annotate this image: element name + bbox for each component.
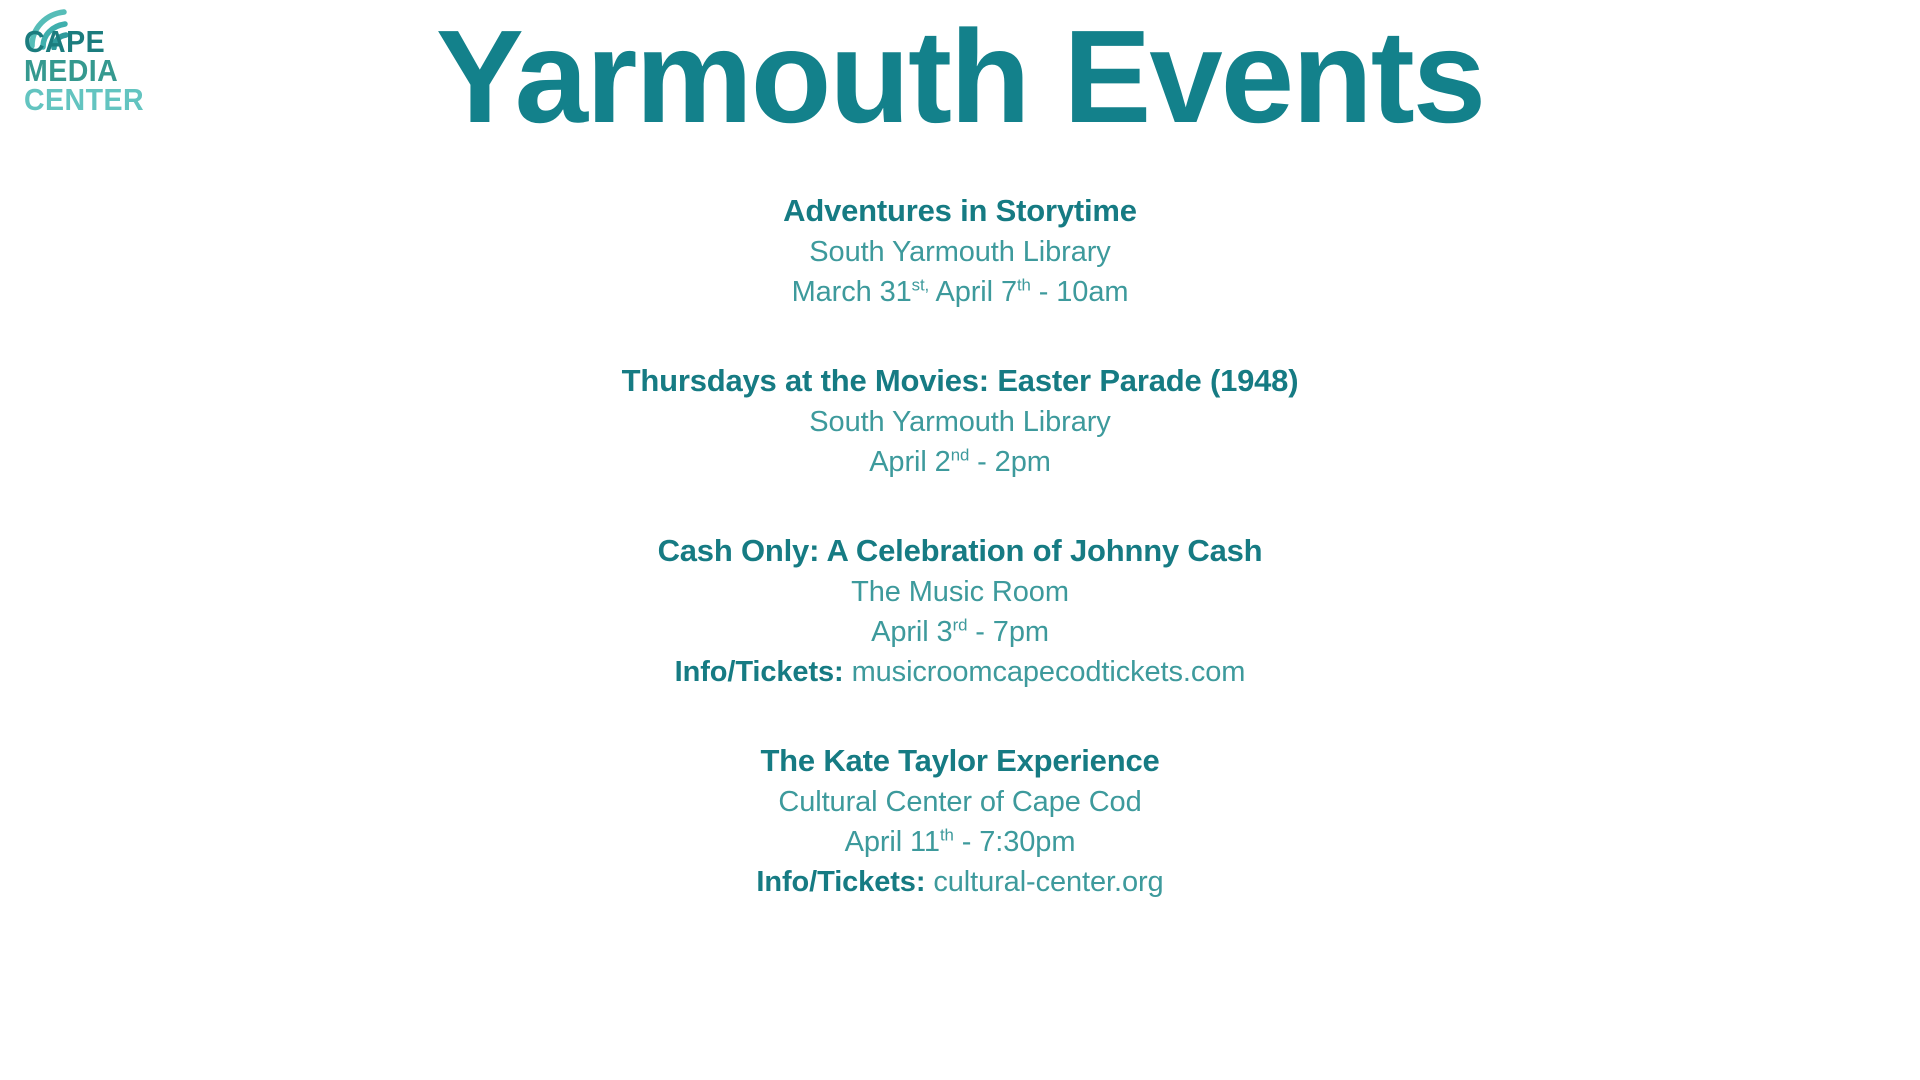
- date-text: April 3: [871, 616, 953, 648]
- event-item: Cash Only: A Celebration of Johnny CashT…: [0, 530, 1920, 692]
- date-text: - 7pm: [967, 616, 1049, 648]
- event-date: April 11th - 7:30pm: [0, 822, 1920, 862]
- info-tickets-link[interactable]: cultural-center.org: [933, 866, 1163, 898]
- event-date: April 3rd - 7pm: [0, 612, 1920, 652]
- date-ordinal-suffix: th: [1017, 275, 1031, 294]
- date-text: April 11: [845, 826, 940, 858]
- date-text: April 7: [929, 276, 1017, 308]
- event-item: Thursdays at the Movies: Easter Parade (…: [0, 360, 1920, 482]
- info-tickets-label: Info/Tickets:: [756, 866, 925, 898]
- event-date: March 31st, April 7th - 10am: [0, 272, 1920, 312]
- date-text: March 31: [792, 276, 912, 308]
- event-date: April 2nd - 2pm: [0, 442, 1920, 482]
- events-list: Adventures in StorytimeSouth Yarmouth Li…: [0, 190, 1920, 902]
- date-text: - 10am: [1031, 276, 1129, 308]
- event-title: Cash Only: A Celebration of Johnny Cash: [0, 530, 1920, 572]
- event-item: Adventures in StorytimeSouth Yarmouth Li…: [0, 190, 1920, 312]
- date-text: April 2: [869, 446, 951, 478]
- date-text: - 7:30pm: [954, 826, 1076, 858]
- event-venue: South Yarmouth Library: [0, 402, 1920, 442]
- event-info-tickets: Info/Tickets: musicroomcapecodtickets.co…: [0, 652, 1920, 692]
- page-title: Yarmouth Events: [0, 2, 1920, 152]
- event-venue: South Yarmouth Library: [0, 232, 1920, 272]
- info-tickets-link[interactable]: musicroomcapecodtickets.com: [852, 656, 1246, 688]
- info-tickets-label: Info/Tickets:: [675, 656, 844, 688]
- event-info-tickets: Info/Tickets: cultural-center.org: [0, 862, 1920, 902]
- event-title: Thursdays at the Movies: Easter Parade (…: [0, 360, 1920, 402]
- event-item: The Kate Taylor ExperienceCultural Cente…: [0, 740, 1920, 902]
- event-venue: The Music Room: [0, 572, 1920, 612]
- date-ordinal-suffix: rd: [953, 615, 968, 634]
- date-ordinal-suffix: nd: [951, 445, 970, 464]
- event-venue: Cultural Center of Cape Cod: [0, 782, 1920, 822]
- date-ordinal-suffix: th: [940, 825, 954, 844]
- event-title: Adventures in Storytime: [0, 190, 1920, 232]
- date-ordinal-suffix: st,: [912, 275, 929, 294]
- event-title: The Kate Taylor Experience: [0, 740, 1920, 782]
- date-text: - 2pm: [969, 446, 1051, 478]
